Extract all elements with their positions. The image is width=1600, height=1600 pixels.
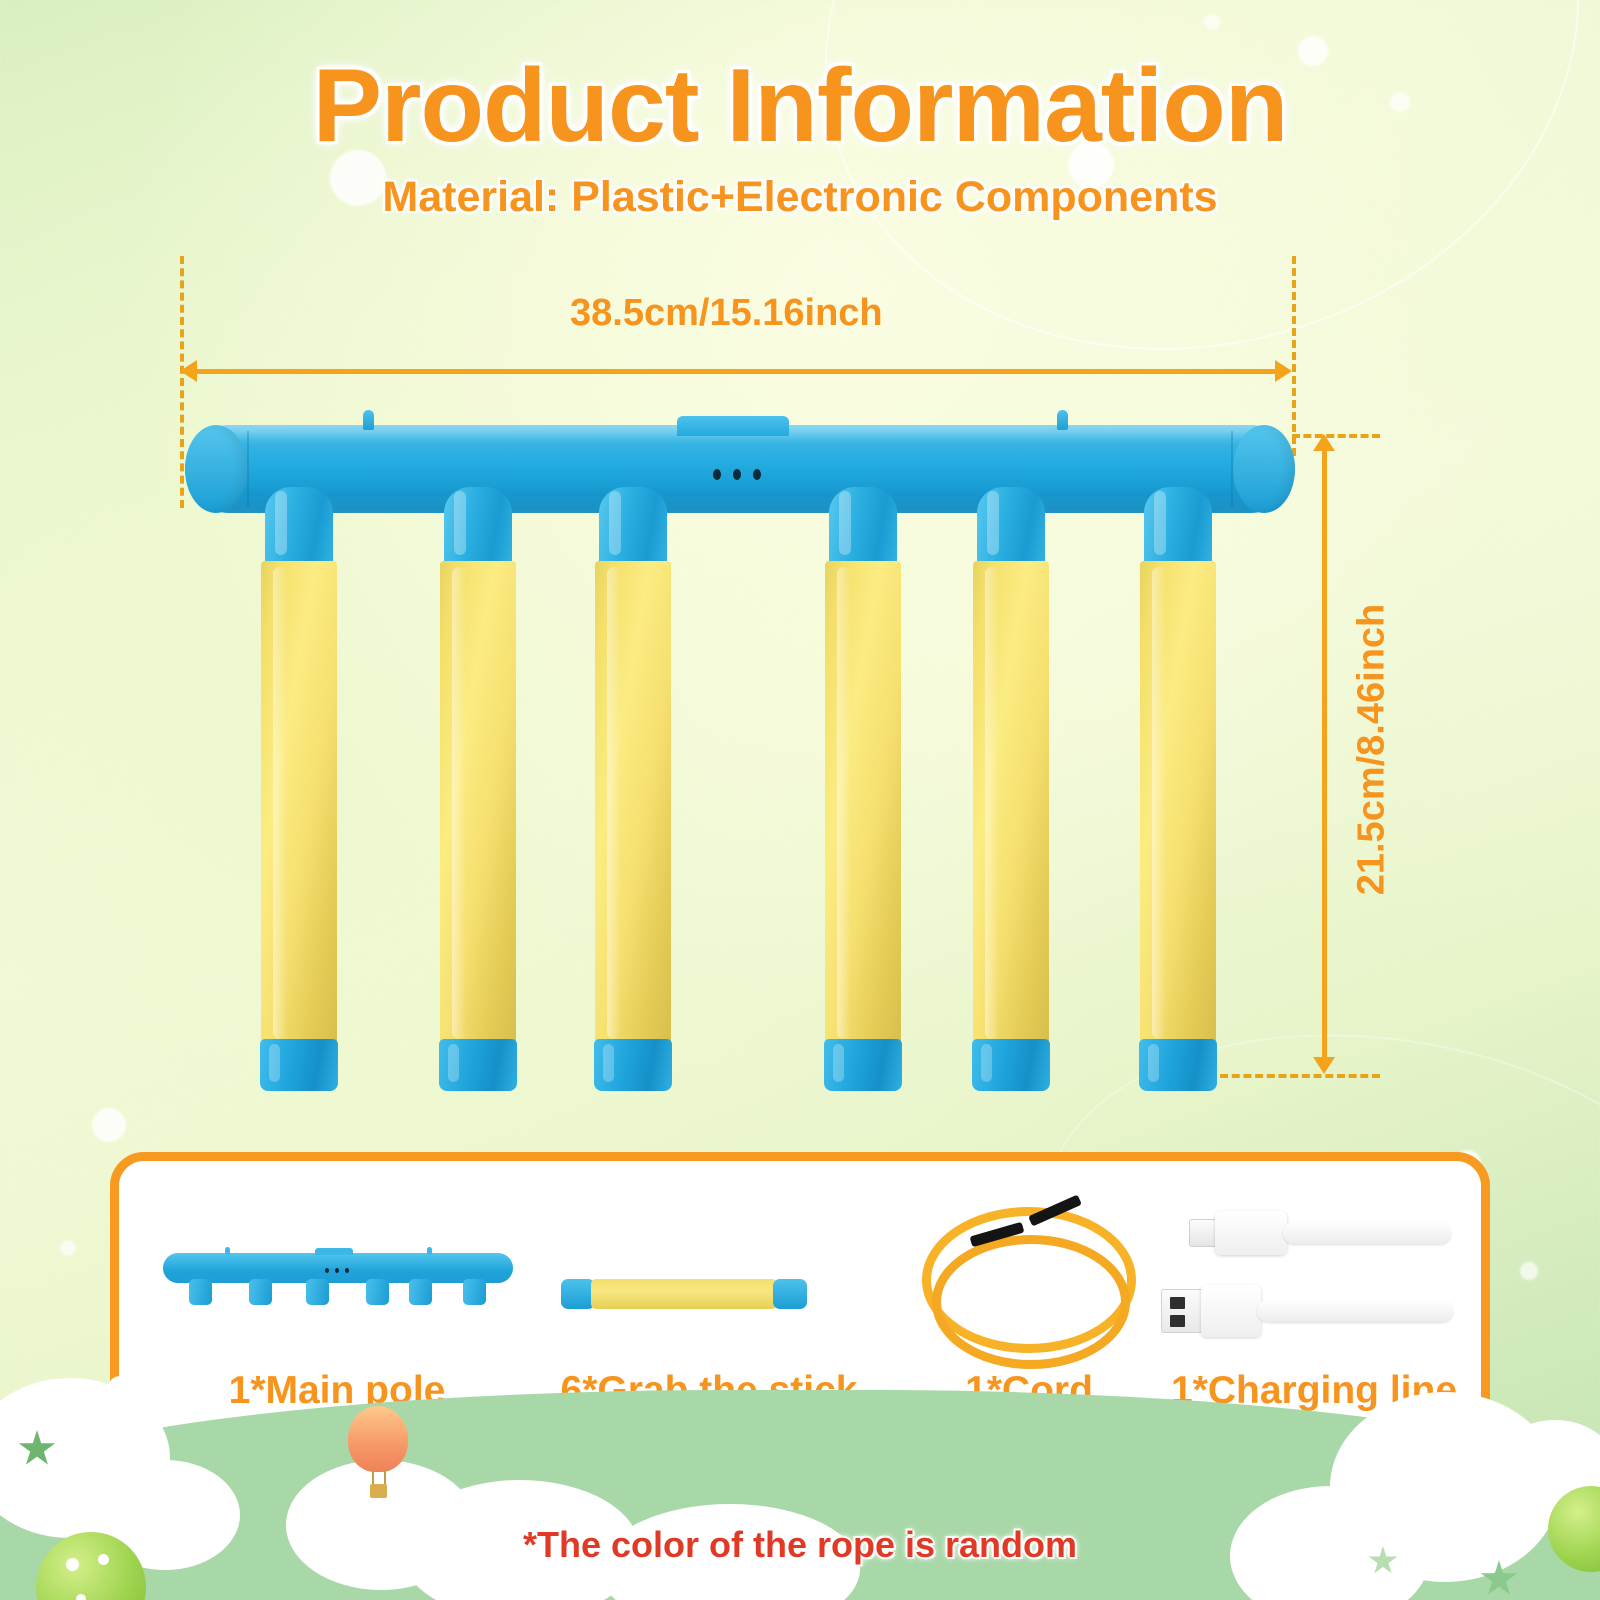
bokeh-circle [92,1108,126,1142]
header-block: Product Information Material: Plastic+El… [0,52,1600,222]
stick-tube [1140,561,1216,1045]
stick-tube [261,561,337,1045]
stick-foot-cap [1139,1039,1217,1091]
stick-cap [561,1279,595,1309]
stick-body [591,1279,777,1309]
height-dimension-arrow [1322,450,1327,1058]
pole-seam [247,431,249,507]
mini-indicator-dots [325,1268,349,1273]
mini-socket [306,1279,329,1305]
stick-foot-cap [972,1039,1050,1091]
mini-pole-bar [163,1253,513,1283]
grab-stick-icon [561,1279,807,1309]
stick-foot-cap [439,1039,517,1091]
width-dimension-arrow [196,369,1276,374]
micro-usb-plug [1215,1211,1287,1255]
mini-socket [189,1279,212,1305]
pole-cap-right [1233,425,1295,513]
product-illustration [185,425,1295,1085]
stick-tube [595,561,671,1045]
mini-socket [249,1279,272,1305]
pole-center-button [677,416,789,436]
stick-tube [825,561,901,1045]
page-subtitle: Material: Plastic+Electronic Components [0,173,1600,222]
footer-note: *The color of the rope is random [0,1524,1600,1566]
dimension-guide-top [1292,434,1380,438]
pole-cap-left [185,425,247,513]
height-dimension-label: 21.5cm/8.46inch [1351,600,1394,900]
mini-socket [409,1279,432,1305]
stick-tube [973,561,1049,1045]
width-dimension-label: 38.5cm/15.16inch [570,292,883,335]
mini-socket [366,1279,389,1305]
micro-usb-tip [1189,1219,1217,1247]
usb-a-tip [1161,1289,1205,1333]
pole-seam [1231,431,1233,507]
main-pole-bar [185,425,1295,513]
bokeh-circle [60,1240,76,1256]
page-title: Product Information [0,52,1600,161]
stick-cap [773,1279,807,1309]
stick-foot-cap [824,1039,902,1091]
bokeh-circle [1204,14,1220,30]
mini-socket [463,1279,486,1305]
bokeh-circle [1520,1262,1538,1280]
cable-wire [1283,1222,1451,1244]
hot-air-balloon-icon [348,1406,408,1472]
pole-nub [1057,410,1068,430]
stick-tube [440,561,516,1045]
stick-foot-cap [594,1039,672,1091]
led-indicator-dots [713,469,761,480]
dimension-guide-left [180,256,184,508]
infographic-canvas: Product Information Material: Plastic+El… [0,0,1600,1600]
stick-foot-cap [260,1039,338,1091]
main-pole-icon [163,1253,513,1305]
pole-nub [363,410,374,430]
cable-wire [1257,1300,1453,1322]
